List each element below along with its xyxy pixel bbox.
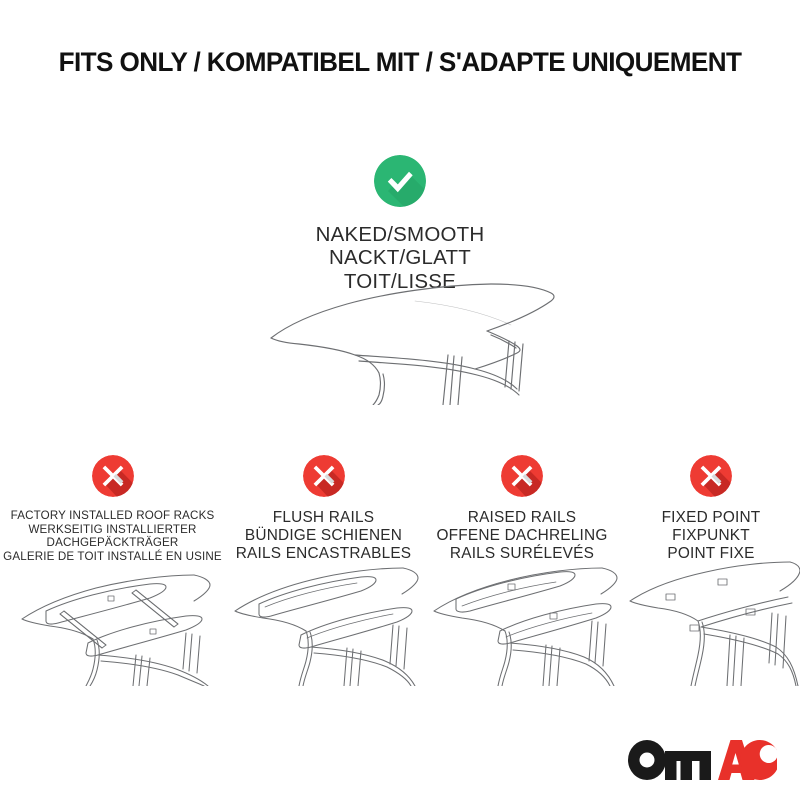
check-circle-icon bbox=[374, 155, 426, 207]
compatible-label-de: NACKT/GLATT bbox=[0, 246, 800, 269]
incompatible-section: FACTORY INSTALLED ROOF RACKS WERKSEITIG … bbox=[0, 455, 800, 564]
car-roof-fixed-point-illustration bbox=[622, 551, 800, 686]
car-roof-raised-rails-illustration bbox=[422, 551, 622, 686]
label-line-1: FIXED POINT bbox=[622, 509, 800, 527]
x-circle-icon bbox=[501, 455, 543, 497]
page-title: FITS ONLY / KOMPATIBEL MIT / S'ADAPTE UN… bbox=[6, 47, 794, 78]
header: FITS ONLY / KOMPATIBEL MIT / S'ADAPTE UN… bbox=[0, 47, 800, 78]
car-roof-flush-rails-illustration bbox=[225, 551, 422, 686]
label-line-3: DACHGEPÄCKTRÄGER bbox=[0, 536, 225, 550]
car-roof-naked-smooth-illustration bbox=[255, 275, 585, 405]
compatible-section: NAKED/SMOOTH NACKT/GLATT TOIT/LISSE bbox=[0, 155, 800, 293]
compatible-label-en: NAKED/SMOOTH bbox=[0, 223, 800, 246]
label-line-2: WERKSEITIG INSTALLIERTER bbox=[0, 523, 225, 537]
label-line-1: RAISED RAILS bbox=[422, 509, 622, 527]
label-line-1: FLUSH RAILS bbox=[225, 509, 422, 527]
incompatible-item-fixed-point: FIXED POINT FIXPUNKT POINT FIXE bbox=[622, 455, 800, 564]
incompatible-item-raised-rails: RAISED RAILS OFFENE DACHRELING RAILS SUR… bbox=[422, 455, 622, 564]
car-roof-factory-racks-illustration bbox=[0, 551, 225, 686]
x-circle-icon bbox=[303, 455, 345, 497]
incompatible-item-factory-installed-roof-racks: FACTORY INSTALLED ROOF RACKS WERKSEITIG … bbox=[0, 455, 225, 564]
incompatible-item-flush-rails: FLUSH RAILS BÜNDIGE SCHIENEN RAILS ENCAS… bbox=[225, 455, 422, 564]
label-line-2: OFFENE DACHRELING bbox=[422, 527, 622, 545]
label-line-2: FIXPUNKT bbox=[622, 527, 800, 545]
label-line-1: FACTORY INSTALLED ROOF RACKS bbox=[0, 509, 225, 523]
omac-logo bbox=[626, 738, 778, 782]
label-line-2: BÜNDIGE SCHIENEN bbox=[225, 527, 422, 545]
x-circle-icon bbox=[690, 455, 732, 497]
x-circle-icon bbox=[92, 455, 134, 497]
